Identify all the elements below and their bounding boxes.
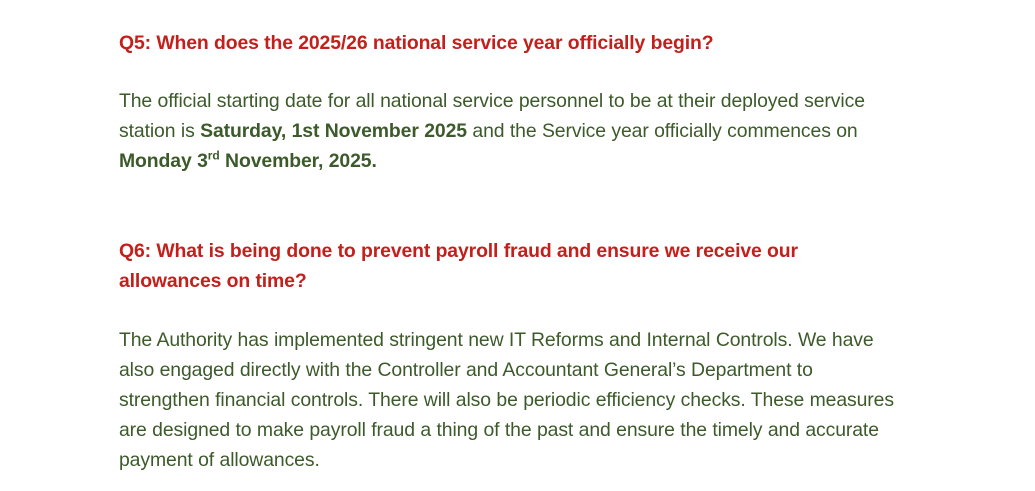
spacer-q5-heading [119,58,894,86]
ordinal-suffix-superscript: rd [208,149,220,163]
spacer-q6-heading [119,296,894,325]
faq-item-q6: Q6: What is being done to prevent payrol… [119,236,894,475]
answer-segment-bold-commence-date-tail: November, 2025. [220,150,377,172]
faq-item-q5: Q5: When does the 2025/26 national servi… [119,28,894,176]
faq-question-heading-q6: Q6: What is being done to prevent payrol… [119,236,894,296]
spacer-between-sections [119,176,894,236]
document-content: Q5: When does the 2025/26 national servi… [119,28,894,475]
faq-answer-q5: The official starting date for all natio… [119,86,894,176]
faq-question-heading-q5: Q5: When does the 2025/26 national servi… [119,28,894,58]
faq-answer-q6: The Authority has implemented stringent … [119,325,894,475]
document-page: Q5: When does the 2025/26 national servi… [0,0,1035,491]
answer-segment-plain-2: and the Service year officially commence… [467,120,858,142]
answer-segment-bold-start-date: Saturday, 1st November 2025 [200,120,467,142]
answer-segment-bold-commence-date: Monday 3 [119,150,208,172]
